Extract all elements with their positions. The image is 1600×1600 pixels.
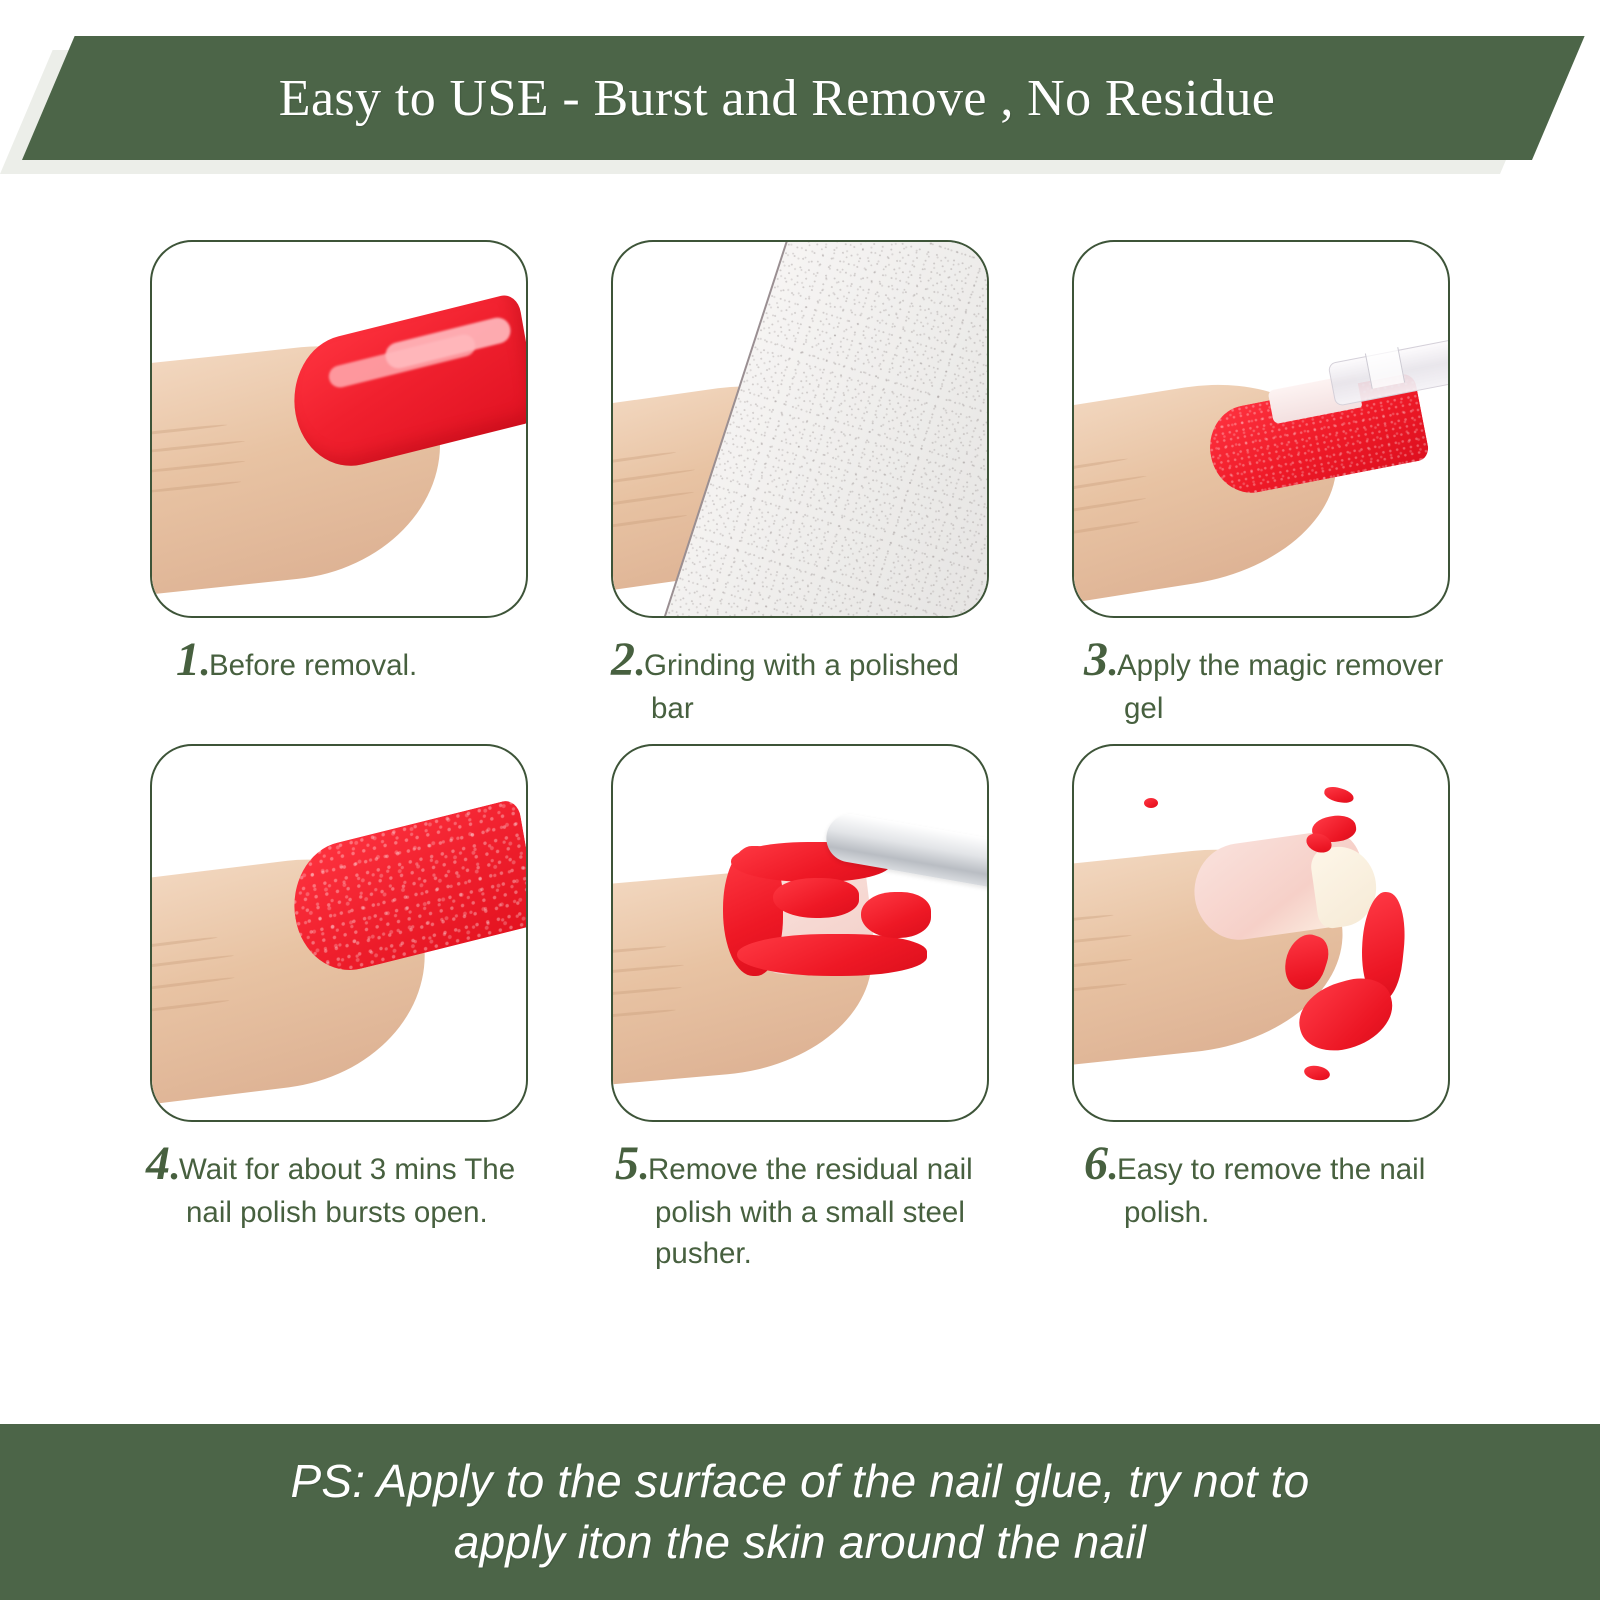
step-number-1: 1: [176, 633, 199, 686]
step-number-dot-4: .: [169, 1143, 179, 1188]
step-number-4: 4: [146, 1137, 169, 1190]
knuckle-lines: [1074, 901, 1164, 1026]
step-item-3: 3.Apply the magic remover gel: [1072, 240, 1450, 730]
peeling-polish-crust: [861, 892, 931, 938]
step-item-4: 4.Wait for about 3 mins The nail polish …: [150, 744, 528, 1275]
knuckle-lines: [613, 934, 708, 1047]
step-caption-3: 3.Apply the magic remover gel: [1072, 634, 1450, 730]
footer-note: PS: Apply to the surface of the nail glu…: [291, 1451, 1310, 1572]
step-caption-6: 6.Easy to remove the nail polish.: [1072, 1138, 1450, 1234]
step-photo-6: [1072, 744, 1450, 1122]
step-number-dot-6: .: [1107, 1143, 1117, 1188]
step-photo-3: [1072, 240, 1450, 618]
polish-flake: [1323, 785, 1355, 805]
knuckle-lines: [1074, 446, 1178, 570]
footer-banner: PS: Apply to the surface of the nail glu…: [0, 1424, 1600, 1600]
step-caption-5: 5.Remove the residual nail polish with a…: [611, 1138, 989, 1275]
step-number-dot-1: .: [199, 639, 209, 684]
step-number-6: 6: [1084, 1137, 1107, 1190]
polish-flake: [1144, 798, 1158, 808]
steps-grid: 1.Before removal.: [150, 240, 1450, 1274]
step-photo-4: [150, 744, 528, 1122]
infographic-page: Easy to USE - Burst and Remove , No Resi…: [0, 0, 1600, 1600]
step-text-6: Easy to remove the nail polish.: [1117, 1153, 1425, 1229]
step-text-2: Grinding with a polished bar: [644, 649, 959, 725]
step-number-dot-3: .: [1107, 639, 1117, 684]
step-photo-2: [611, 240, 989, 618]
peeling-polish-crust: [773, 878, 859, 918]
step-text-1: Before removal.: [209, 649, 417, 682]
knuckle-lines: [152, 412, 267, 527]
footer-note-line2: apply iton the skin around the nail: [454, 1516, 1146, 1568]
step-text-5: Remove the residual nail polish with a s…: [648, 1153, 973, 1270]
step-number-dot-5: .: [638, 1143, 648, 1188]
step-caption-2: 2.Grinding with a polished bar: [611, 634, 989, 730]
step-number-dot-2: .: [634, 639, 644, 684]
step-photo-1: [150, 240, 528, 618]
step-number-2: 2: [611, 633, 634, 686]
step-text-3: Apply the magic remover gel: [1117, 649, 1443, 725]
peeling-polish-crust: [737, 934, 927, 976]
step-item-5: 5.Remove the residual nail polish with a…: [611, 744, 989, 1275]
step-caption-1: 1.Before removal.: [150, 634, 528, 689]
burst-red-nail-illustration: [284, 798, 526, 982]
header-banner: Easy to USE - Burst and Remove , No Resi…: [0, 36, 1600, 176]
step-item-1: 1.Before removal.: [150, 240, 528, 730]
polish-flake: [1303, 1064, 1331, 1082]
step-item-6: 6.Easy to remove the nail polish.: [1072, 744, 1450, 1275]
pen-band: [1365, 347, 1405, 389]
step-number-3: 3: [1084, 633, 1107, 686]
step-number-5: 5: [615, 1137, 638, 1190]
step-photo-5: [611, 744, 989, 1122]
footer-note-line1: PS: Apply to the surface of the nail glu…: [291, 1455, 1310, 1507]
step-text-4: Wait for about 3 mins The nail polish bu…: [179, 1153, 515, 1229]
step-item-2: 2.Grinding with a polished bar: [611, 240, 989, 730]
step-caption-4: 4.Wait for about 3 mins The nail polish …: [150, 1138, 528, 1234]
knuckle-lines: [152, 923, 264, 1041]
page-title: Easy to USE - Burst and Remove , No Resi…: [22, 36, 1532, 160]
